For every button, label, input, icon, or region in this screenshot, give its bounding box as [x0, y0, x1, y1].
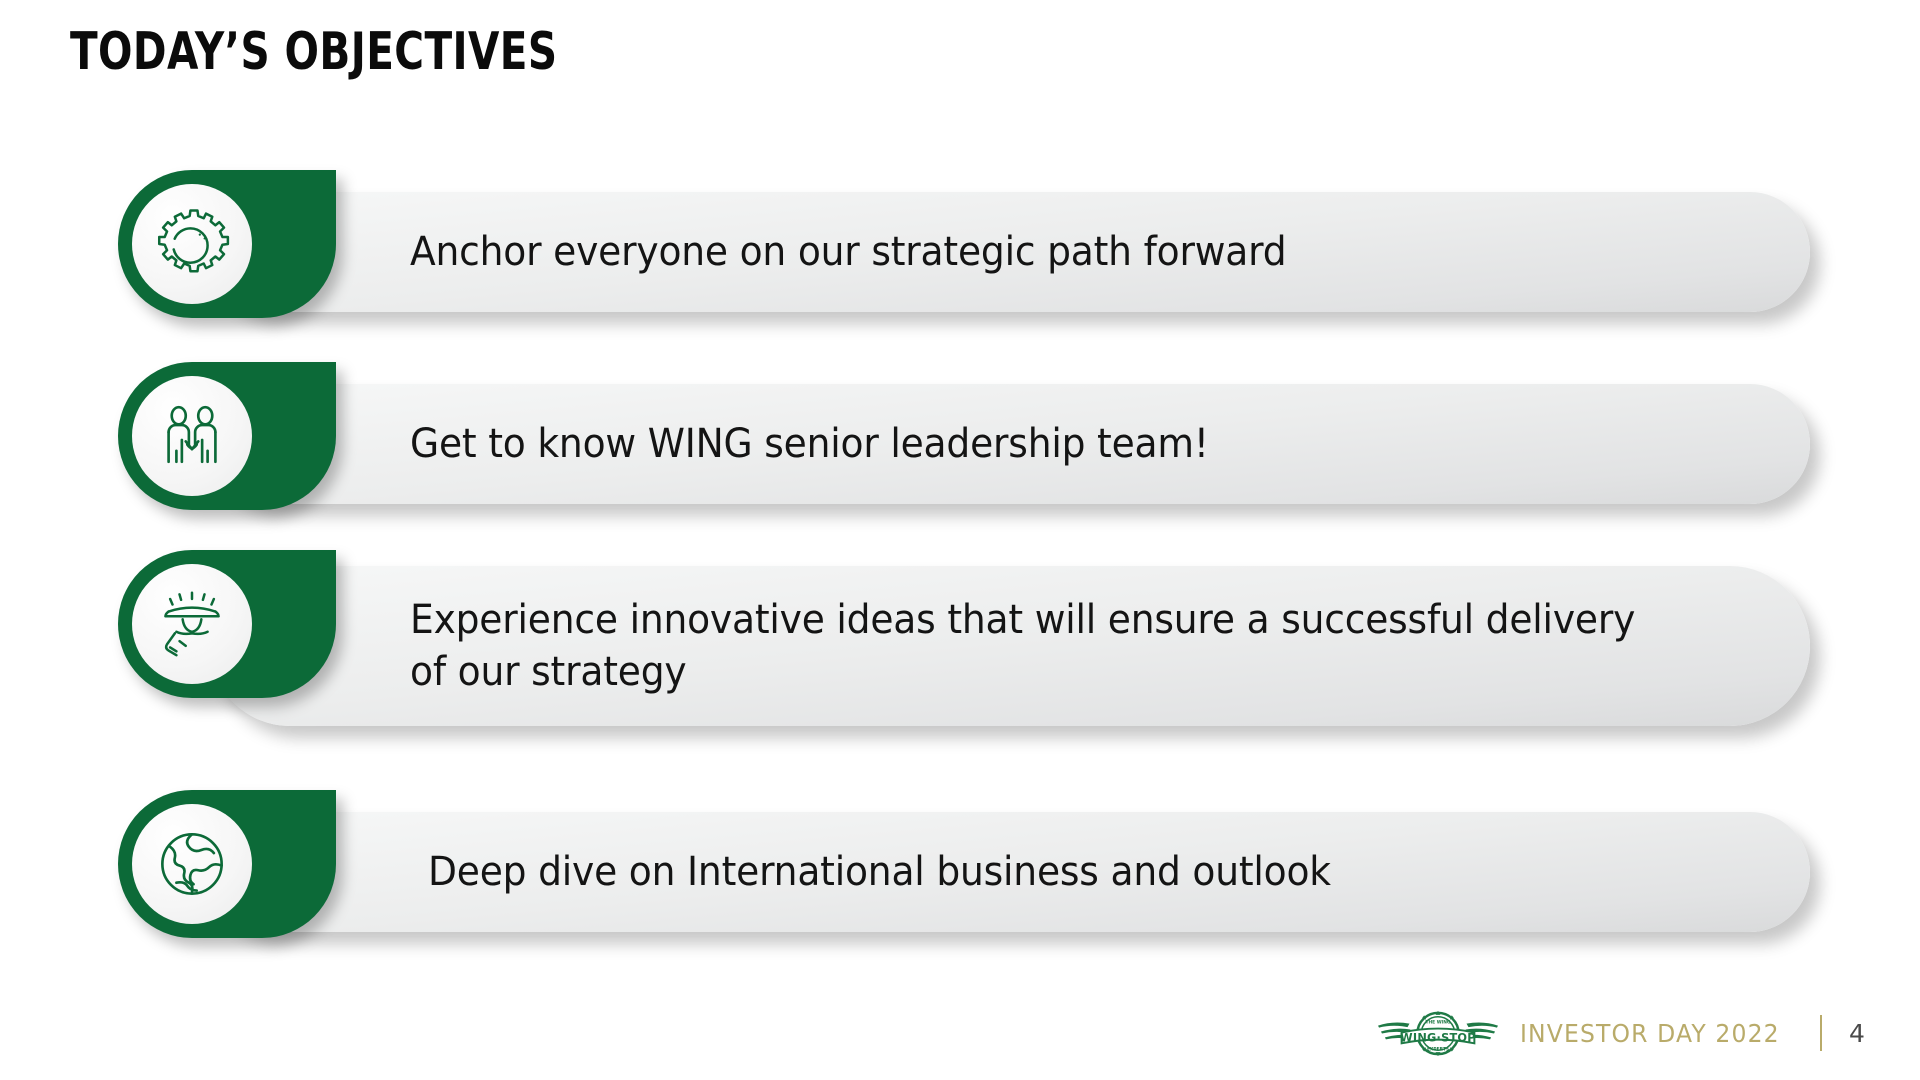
serving-tray-icon [132, 564, 252, 684]
objective-text-3: Experience innovative ideas that will en… [410, 594, 1641, 698]
gear-icon [132, 184, 252, 304]
page-number: 4 [1846, 1019, 1868, 1048]
objective-text-4: Deep dive on International business and … [428, 846, 1642, 898]
svg-text:EXPERTS: EXPERTS [1427, 1047, 1449, 1053]
objective-text-2: Get to know WING senior leadership team! [410, 418, 1641, 470]
svg-text:THE WING: THE WING [1425, 1020, 1450, 1026]
footer-divider [1820, 1015, 1822, 1051]
objective-card-3[interactable]: Experience innovative ideas that will en… [210, 566, 1810, 726]
objective-text-1: Anchor everyone on our strategic path fo… [410, 226, 1641, 278]
svg-text:WING·STOP: WING·STOP [1400, 1031, 1476, 1044]
objective-card-4[interactable]: Deep dive on International business and … [210, 812, 1810, 932]
objective-card-1[interactable]: Anchor everyone on our strategic path fo… [210, 192, 1810, 312]
objective-card-2[interactable]: Get to know WING senior leadership team! [210, 384, 1810, 504]
wingstop-logo: WING·STOP THE WING EXPERTS [1374, 1004, 1502, 1062]
page-title: TODAY’S OBJECTIVES [70, 22, 557, 82]
slide-canvas: TODAY’S OBJECTIVES Anchor everyone on ou… [0, 0, 1920, 1080]
globe-icon [132, 804, 252, 924]
partnership-people-icon [132, 376, 252, 496]
slide-footer: WING·STOP THE WING EXPERTS INVESTOR DAY … [1374, 1004, 1868, 1062]
footer-event-label: INVESTOR DAY 2022 [1520, 1019, 1780, 1048]
